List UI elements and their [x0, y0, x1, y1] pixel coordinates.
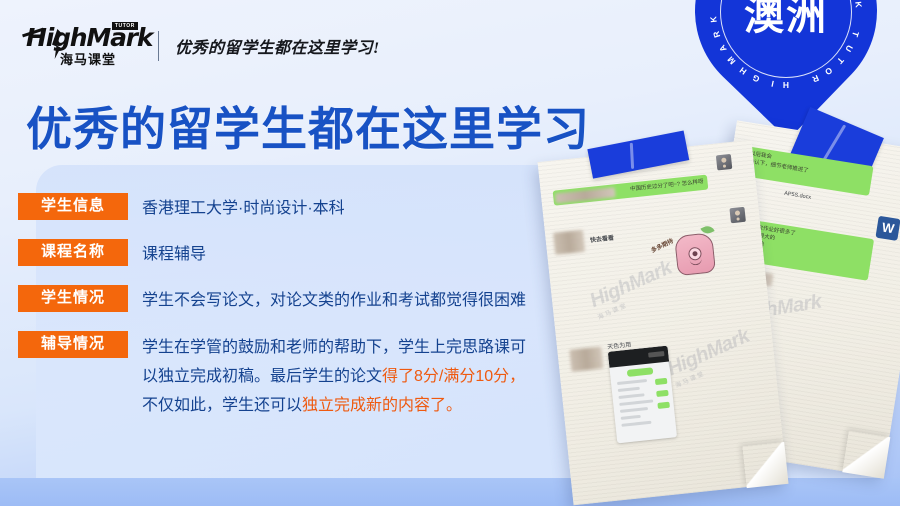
- watermark-front-1-sub: 海马课堂: [596, 278, 679, 322]
- stamp-char: H: [782, 80, 789, 90]
- mascot-caption: 多多期待: [649, 236, 675, 255]
- tutoring-line-2: 以独立完成初稿。最后学生的论文得了8分/满分10分，: [142, 362, 526, 391]
- info-row-tutoring: 辅导情况 学生在学管的鼓励和老师的帮助下，学生上完思路课可 以独立完成初稿。最后…: [18, 331, 618, 420]
- document-collage: 收到资料以后我会 和教授再确认下，细节老师推进了 学期中final: AP5S.…: [545, 120, 900, 506]
- redacted-avatar-front-2: [569, 347, 603, 372]
- stamp-char: O: [822, 65, 834, 78]
- row-tag-course-name: 课程名称: [18, 239, 128, 266]
- file-name-label: AP5S.docx: [784, 191, 812, 201]
- row-value-student-info: 香港理工大学·时尚设计·本科: [142, 193, 345, 222]
- info-row-course: 课程名称 课程辅导: [18, 239, 618, 268]
- word-file-icon: W: [875, 216, 900, 241]
- chat-text-front-1: 快去看看: [589, 233, 614, 244]
- paper-sheet-front: 中国历史过分了吧~? 怎么样呀 快去看看 多多期待 天色为用: [538, 140, 788, 506]
- mini-tag: [655, 378, 668, 385]
- stamp-char: U: [843, 43, 855, 54]
- tutoring-line-3-highlight: 独立完成新的内容了。: [302, 397, 462, 414]
- mascot-sticker: 多多期待: [674, 232, 716, 276]
- tutoring-line-2-highlight: 得了8分/满分10分，: [382, 368, 525, 385]
- row-tag-tutoring-result: 辅导情况: [18, 331, 128, 358]
- stamp-char: R: [810, 73, 821, 85]
- row-value-tutoring-result: 学生在学管的鼓励和老师的帮助下，学生上完思路课可 以独立完成初稿。最后学生的论文…: [142, 331, 526, 420]
- mascot-leaf-icon: [700, 224, 714, 236]
- mini-line: [621, 415, 641, 420]
- mini-tag: [656, 390, 669, 397]
- info-row-situation: 学生情况 学生不会写论文，对论文类的作业和考试都觉得很困难: [18, 285, 618, 314]
- stamp-inner: HIGHMARK TUTOR HIGHMARK TUTOR 澳洲: [698, 0, 874, 100]
- country-stamp: HIGHMARK TUTOR HIGHMARK TUTOR 澳洲: [675, 0, 900, 140]
- page-curl-back: [842, 431, 890, 479]
- logo-tutor-badge: TUTOR: [112, 22, 138, 30]
- mascot-mouth-icon: [690, 259, 703, 266]
- stamp-char: A: [716, 42, 728, 53]
- page-curl-front: [742, 442, 788, 488]
- tutoring-line-3: 不仅如此，学生还可以独立完成新的内容了。: [142, 391, 526, 420]
- info-row-student: 学生信息 香港理工大学·时尚设计·本科: [18, 193, 618, 222]
- row-tag-student-info: 学生信息: [18, 193, 128, 220]
- mini-line: [621, 421, 651, 427]
- mini-line: [619, 399, 653, 406]
- logo-chinese-name: 海马课堂: [60, 49, 116, 68]
- redacted-avatar-front: [553, 230, 585, 255]
- watermark-front-2: HighMark 海马课堂: [664, 325, 757, 390]
- page-title: 优秀的留学生都在这里学习: [26, 93, 590, 159]
- mini-line: [618, 393, 644, 399]
- poster-canvas: HighMark TUTOR 海马课堂 优秀的留学生都在这里学习! HIGHMA…: [0, 0, 900, 506]
- chat-avatar-mid: [729, 207, 745, 223]
- stamp-char: H: [737, 65, 749, 77]
- highmark-logo: HighMark TUTOR 海马课堂: [26, 25, 136, 67]
- blue-tape-front: [587, 131, 689, 179]
- watermark-front-2-sub: 海马课堂: [674, 346, 757, 390]
- mini-line: [620, 407, 648, 413]
- watermark-front-1-text: HighMark: [587, 257, 676, 313]
- mini-screenshot-chip: [627, 367, 654, 377]
- mini-line: [617, 379, 647, 385]
- brand-header: HighMark TUTOR 海马课堂 优秀的留学生都在这里学习!: [26, 24, 380, 68]
- stamp-char: I: [769, 78, 774, 88]
- tutoring-line-3-plain: 不仅如此，学生还可以: [142, 397, 302, 414]
- header-slogan: 优秀的留学生都在这里学习!: [175, 34, 380, 58]
- tutoring-line-1: 学生在学管的鼓励和老师的帮助下，学生上完思路课可: [142, 333, 526, 362]
- header-divider: [158, 31, 159, 61]
- watermark-front-1: HighMark 海马课堂: [587, 257, 680, 322]
- stamp-char: G: [750, 72, 761, 84]
- chat-avatar-top: [716, 154, 732, 170]
- stamp-char: T: [834, 55, 846, 66]
- stamp-char: M: [725, 54, 738, 67]
- watermark-front-2-text: HighMark: [664, 325, 753, 381]
- mini-screenshot: [608, 346, 677, 444]
- mini-tag: [657, 402, 670, 409]
- tutoring-line-2-plain: 以独立完成初稿。最后学生的论文: [142, 368, 382, 385]
- info-rows: 学生信息 香港理工大学·时尚设计·本科 课程名称 课程辅导 学生情况 学生不会写…: [18, 193, 618, 437]
- stamp-country-label: 澳洲: [698, 0, 874, 41]
- mini-line: [618, 387, 640, 392]
- row-value-course-name: 课程辅导: [142, 239, 206, 268]
- row-tag-student-situation: 学生情况: [18, 285, 128, 312]
- row-value-student-situation: 学生不会写论文，对论文类的作业和考试都觉得很困难: [142, 285, 526, 314]
